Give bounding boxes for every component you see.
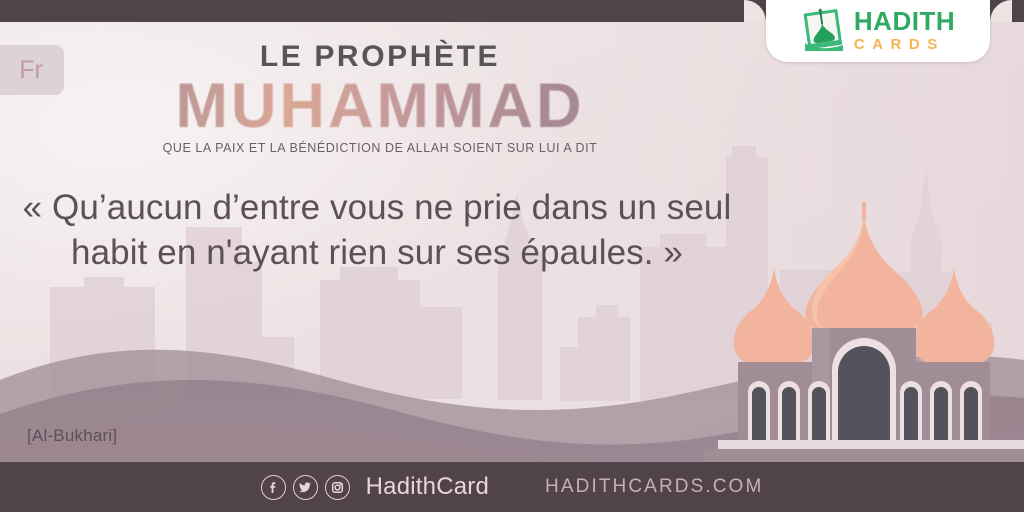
twitter-icon[interactable] <box>293 475 318 500</box>
prophet-name: MUHAMMAD <box>0 74 760 140</box>
logo-hadith-text: HADITH <box>854 8 955 34</box>
eyebrow-title: LE PROPHÈTE <box>0 42 760 72</box>
brand-logo[interactable]: HADITH CARDS <box>766 0 990 62</box>
hadith-source: [Al-Bukhari] <box>27 426 117 446</box>
logo-notch-left <box>744 0 766 22</box>
facebook-icon[interactable] <box>261 475 286 500</box>
blessing-line: QUE LA PAIX ET LA BÉNÉDICTION DE ALLAH S… <box>0 141 760 155</box>
logo-cards-text: CARDS <box>854 37 955 52</box>
hadith-card: HADITH CARDS Fr LE PROPHÈTE MUHAMMAD QUE… <box>0 0 1024 512</box>
title-block: LE PROPHÈTE MUHAMMAD QUE LA PAIX ET LA B… <box>0 42 760 155</box>
website-url[interactable]: HADITHCARDS.COM <box>545 476 763 498</box>
social-links: HadithCard <box>261 473 489 501</box>
social-handle: HadithCard <box>366 473 489 501</box>
hadith-quote: « Qu’aucun d’entre vous ne prie dans un … <box>14 186 740 276</box>
mosque-photo-icon <box>801 7 847 53</box>
instagram-icon[interactable] <box>325 475 350 500</box>
logo-wordmark: HADITH CARDS <box>854 8 955 52</box>
footer-content: HadithCard HADITHCARDS.COM <box>0 462 1024 512</box>
logo-notch-right <box>990 0 1012 22</box>
